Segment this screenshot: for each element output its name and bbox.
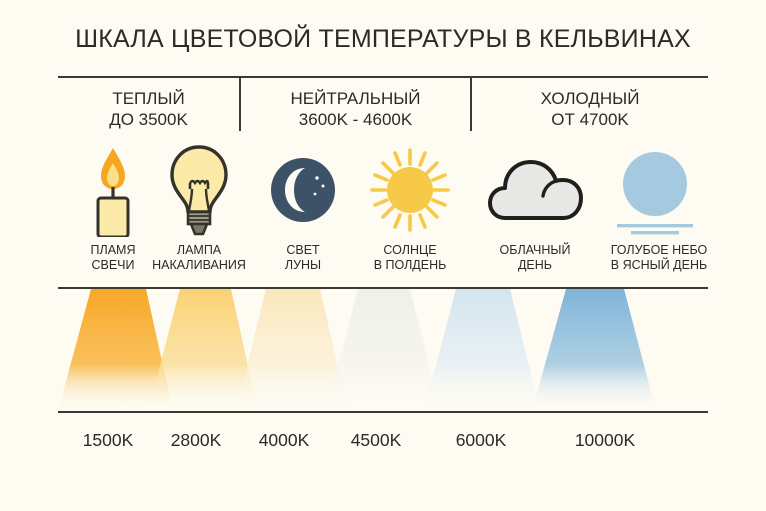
- bulb-label-line2: НАКАЛИВАНИЯ: [140, 258, 258, 273]
- category-neutral: НЕЙТРАЛЬНЫЙ 3600K - 4600K: [241, 88, 470, 130]
- sky-label-line1: ГОЛУБОЕ НЕБО: [611, 243, 708, 257]
- bulb-label-line1: ЛАМПА: [177, 243, 221, 257]
- source-label-bulb: ЛАМПА НАКАЛИВАНИЯ: [140, 243, 258, 273]
- kelvin-value-4: 4500K: [326, 430, 426, 451]
- sun-icon: [348, 142, 472, 237]
- header-rule-top: [58, 76, 708, 78]
- light-bulb-icon: [140, 142, 258, 237]
- source-column-sky: ГОЛУБОЕ НЕБО В ЯСНЫЙ ДЕНЬ: [594, 142, 724, 273]
- candle-label-line1: ПЛАМЯ: [91, 243, 136, 257]
- moon-label-line2: ЛУНЫ: [258, 258, 348, 273]
- category-warm-name: ТЕПЛЫЙ: [112, 89, 184, 108]
- moon-icon: [258, 142, 348, 237]
- kelvin-value-6: 10000K: [540, 430, 670, 451]
- category-warm-range: ДО 3500K: [58, 109, 239, 130]
- source-column-bulb: ЛАМПА НАКАЛИВАНИЯ: [140, 142, 258, 273]
- cloud-icon: [476, 142, 594, 237]
- category-warm: ТЕПЛЫЙ ДО 3500K: [58, 88, 239, 130]
- source-column-sun: СОЛНЦЕ В ПОЛДЕНЬ: [348, 142, 472, 273]
- kelvin-value-1: 1500K: [58, 430, 158, 451]
- cloud-label-line2: ДЕНЬ: [476, 258, 594, 273]
- source-label-cloud: ОБЛАЧНЫЙ ДЕНЬ: [476, 243, 594, 273]
- source-column-cloud: ОБЛАЧНЫЙ ДЕНЬ: [476, 142, 594, 273]
- light-cones: [58, 289, 708, 411]
- source-label-sky: ГОЛУБОЕ НЕБО В ЯСНЫЙ ДЕНЬ: [594, 243, 724, 273]
- band-rule-bottom: [58, 411, 708, 413]
- source-column-moon: СВЕТ ЛУНЫ: [258, 142, 348, 273]
- category-cold: ХОЛОДНЫЙ ОТ 4700K: [472, 88, 708, 130]
- sun-label-line2: В ПОЛДЕНЬ: [348, 258, 472, 273]
- category-cold-range: ОТ 4700K: [472, 109, 708, 130]
- source-label-sun: СОЛНЦЕ В ПОЛДЕНЬ: [348, 243, 472, 273]
- kelvin-value-2: 2800K: [146, 430, 246, 451]
- infographic-root: ШКАЛА ЦВЕТОВОЙ ТЕМПЕРАТУРЫ В КЕЛЬВИНАХ Т…: [0, 0, 766, 511]
- cloud-label-line1: ОБЛАЧНЫЙ: [500, 243, 571, 257]
- blue-sky-icon: [594, 142, 724, 237]
- category-neutral-name: НЕЙТРАЛЬНЫЙ: [291, 89, 421, 108]
- sky-label-line2: В ЯСНЫЙ ДЕНЬ: [594, 258, 724, 273]
- page-title: ШКАЛА ЦВЕТОВОЙ ТЕМПЕРАТУРЫ В КЕЛЬВИНАХ: [0, 25, 766, 54]
- moon-label-line1: СВЕТ: [286, 243, 319, 257]
- sun-label-line1: СОЛНЦЕ: [383, 243, 436, 257]
- category-cold-name: ХОЛОДНЫЙ: [541, 89, 640, 108]
- light-cone-band: [58, 289, 708, 411]
- category-neutral-range: 3600K - 4600K: [241, 109, 470, 130]
- source-label-moon: СВЕТ ЛУНЫ: [258, 243, 348, 273]
- kelvin-value-3: 4000K: [234, 430, 334, 451]
- kelvin-value-5: 6000K: [426, 430, 536, 451]
